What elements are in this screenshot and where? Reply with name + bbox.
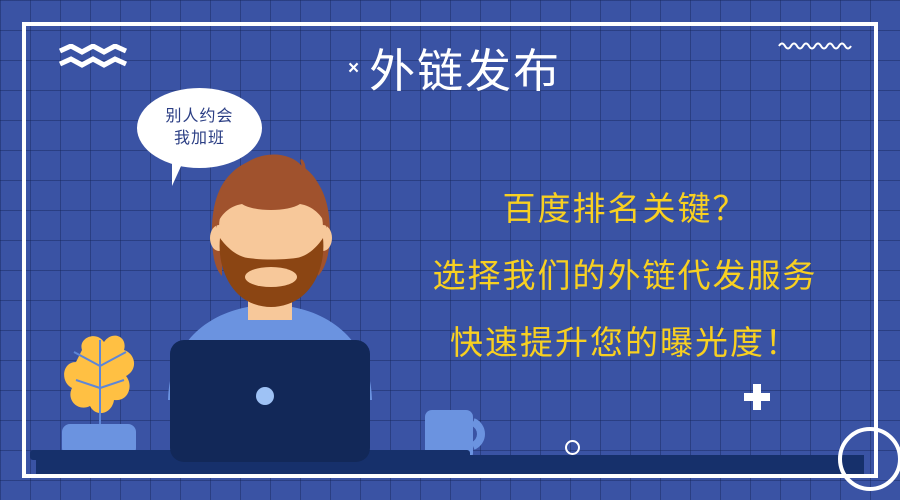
person-mouth: [245, 267, 297, 287]
page-title: × 外链发布: [348, 48, 561, 94]
person-hair: [212, 160, 330, 276]
person-shirt: [168, 305, 372, 400]
corner-circle-icon: [838, 427, 900, 491]
coffee-mug-illustration: [425, 410, 481, 460]
person-beard: [220, 238, 324, 307]
laptop-screen: [170, 340, 370, 462]
speech-bubble-line-2: 我加班: [174, 129, 225, 149]
title-bullet-icon: ×: [348, 59, 359, 84]
poster-canvas: 别人约会 我加班 × 外链发布 百度排名关键？ 选择我们的外链代发服务 快速提升…: [0, 0, 900, 500]
copy-line-3: 快速提升您的曝光度！: [395, 326, 855, 359]
person-neck: [248, 280, 292, 320]
small-circle-icon: [565, 440, 580, 455]
title-text: 外链发布: [369, 48, 561, 94]
laptop-logo-icon: [256, 387, 274, 405]
desk-surface: [36, 455, 864, 477]
marketing-copy: 百度排名关键？ 选择我们的外链代发服务 快速提升您的曝光度！: [395, 192, 855, 359]
plus-icon: [744, 384, 770, 410]
speech-bubble: 别人约会 我加班: [137, 88, 262, 168]
plant-illustration: [62, 336, 136, 456]
wave-line-icon: [778, 40, 852, 52]
person-face: [219, 172, 323, 284]
wave-lines-icon: [58, 44, 128, 70]
copy-line-2: 选择我们的外链代发服务: [395, 259, 855, 292]
copy-line-1: 百度排名关键？: [395, 192, 855, 225]
speech-bubble-line-1: 别人约会: [165, 107, 233, 127]
